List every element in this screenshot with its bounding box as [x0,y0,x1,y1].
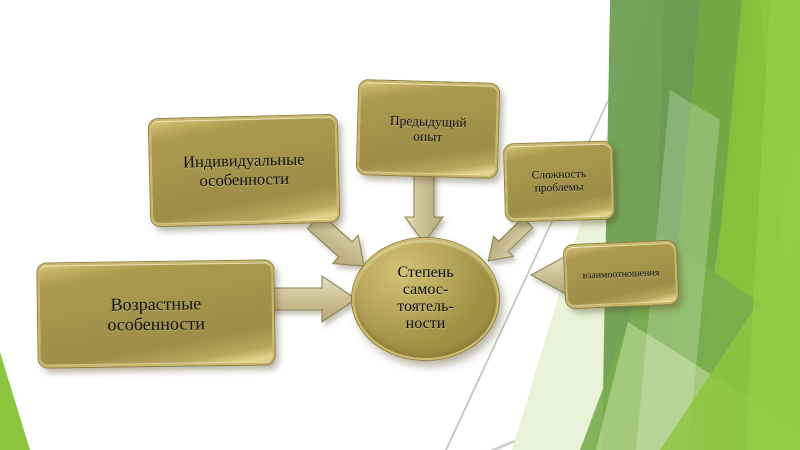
diagram-node-problem-complexity[interactable]: Сложностьпроблемы [504,142,614,222]
diagram-node-age-features-label: Возрастныеособенности [107,293,205,335]
diagram-node-previous-experience-label: Предыдущийопыт [389,113,467,145]
diagram-node-individual[interactable]: Индивидуальныеособенности [149,115,340,227]
diagram-center-oval[interactable]: Степеньсамос-тоятель-ности [352,238,499,360]
diagram-node-relationships[interactable]: взаимоотношения [564,241,679,309]
diagram-node-previous-experience[interactable]: Предыдущийопыт [357,80,500,178]
diagram-node-problem-complexity-label: Сложностьпроблемы [531,168,586,195]
diagram-center-oval-label: Степеньсамос-тоятель-ности [397,265,454,333]
slide-canvas: Индивидуальныеособенности Предыдущийопыт… [0,0,800,450]
diagram-node-layer: Индивидуальныеособенности Предыдущийопыт… [0,0,800,450]
diagram-node-relationships-label: взаимоотношения [582,267,659,281]
diagram-node-age-features[interactable]: Возрастныеособенности [37,260,274,367]
diagram-node-individual-label: Индивидуальныеособенности [183,151,305,191]
